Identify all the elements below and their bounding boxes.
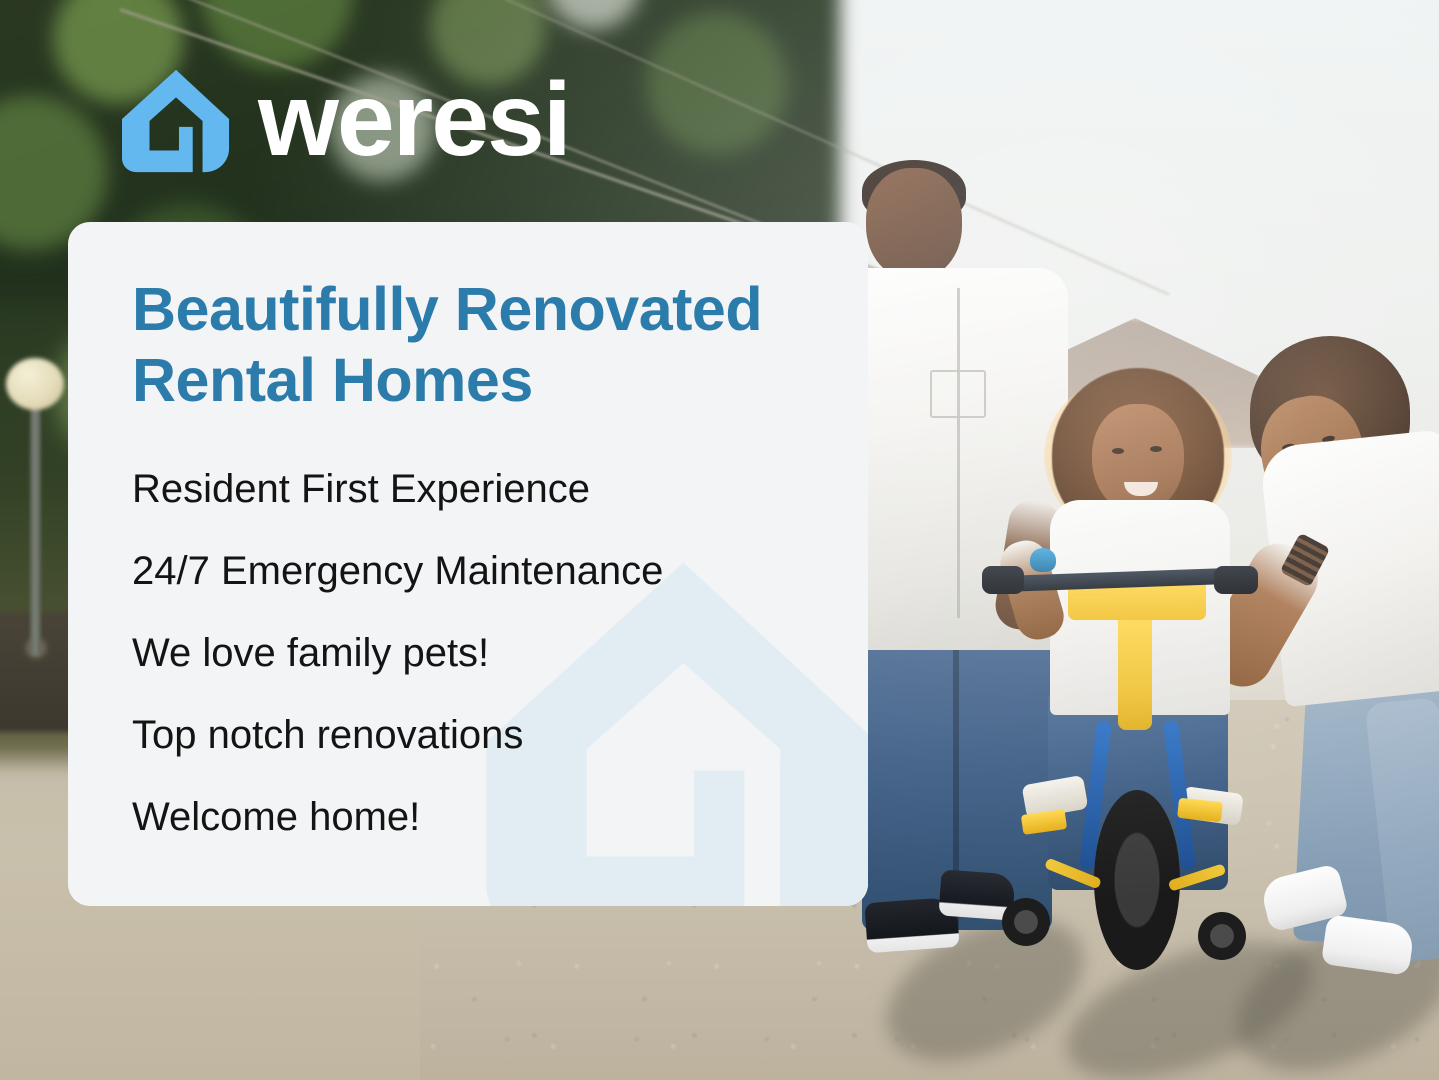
feature-list: Resident First Experience 24/7 Emergency… (132, 468, 868, 838)
flyer-canvas: weresi Beautifully Renovated Rental Home… (0, 0, 1439, 1080)
card-content: Beautifully Renovated Rental Homes Resid… (68, 222, 868, 838)
bicycle-grip (982, 566, 1024, 594)
father-head (866, 168, 962, 280)
brand-lockup: weresi (118, 66, 570, 176)
bicycle-stem (1118, 610, 1152, 730)
page-title: Beautifully Renovated Rental Homes (132, 274, 832, 416)
list-item: 24/7 Emergency Maintenance (132, 550, 868, 592)
list-item: Welcome home! (132, 796, 868, 838)
list-item: Resident First Experience (132, 468, 868, 510)
content-card: Beautifully Renovated Rental Homes Resid… (68, 222, 868, 906)
bicycle-bell (1030, 548, 1056, 572)
footer: EQUAL HOUSING OPPORTUNITY Visit: www.wer… (0, 940, 1439, 1080)
street-lamp-post (30, 395, 41, 655)
child-eye (1150, 446, 1162, 452)
bicycle-grip (1214, 566, 1258, 594)
father-shirt-pocket (930, 370, 986, 418)
list-item: We love family pets! (132, 632, 868, 674)
house-logo-icon (118, 66, 236, 176)
brand-name: weresi (258, 74, 570, 168)
list-item: Top notch renovations (132, 714, 868, 756)
street-lamp-globe (6, 358, 64, 410)
training-wheel (1002, 898, 1050, 946)
child-eye (1112, 448, 1124, 454)
child-face (1092, 404, 1184, 514)
